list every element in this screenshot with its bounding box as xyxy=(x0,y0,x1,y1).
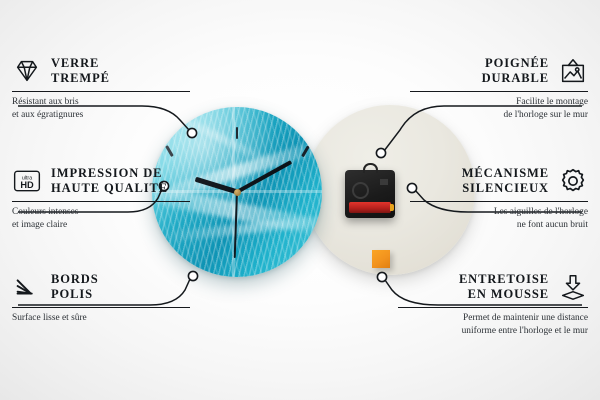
feature-title-line2: POLIS xyxy=(51,287,99,302)
feature-title-line1: MÉCANISME xyxy=(462,166,549,181)
feature-title-line1: IMPRESSION DE xyxy=(51,166,168,181)
feature-title-line2: TREMPÉ xyxy=(51,71,110,86)
feature-header: POIGNÉE DURABLE xyxy=(410,56,588,87)
feature-divider xyxy=(12,307,190,309)
feature-description: Surface lisse et sûre xyxy=(12,312,190,325)
feature-description: Facilite le montage de l'horloge sur le … xyxy=(410,96,588,123)
feature-header: VERRE TREMPÉ xyxy=(12,56,190,87)
polished-edges-icon xyxy=(12,272,42,302)
feature-title-line2: DURABLE xyxy=(482,71,549,86)
battery xyxy=(349,202,391,213)
feature-title-line1: POIGNÉE xyxy=(482,56,549,71)
feature-header: BORDS POLIS xyxy=(12,272,190,303)
feature-durable-handle: POIGNÉE DURABLE Facilite le montage de l… xyxy=(410,56,588,123)
feature-polished-edges: BORDS POLIS Surface lisse et sûre xyxy=(12,272,190,325)
mechanism-chip xyxy=(380,179,388,185)
feature-print-quality: ultra HD IMPRESSION DE HAUTE QUALITÉ Cou… xyxy=(12,166,190,233)
feature-divider xyxy=(410,91,588,93)
mechanism-dial xyxy=(352,182,369,199)
diamond-icon xyxy=(12,56,42,86)
feature-title-line1: VERRE xyxy=(51,56,110,71)
feature-title: IMPRESSION DE HAUTE QUALITÉ xyxy=(51,166,168,197)
feature-divider xyxy=(410,201,588,203)
feature-header: ultra HD IMPRESSION DE HAUTE QUALITÉ xyxy=(12,166,190,197)
feature-description: Résistant aux bris et aux égratignures xyxy=(12,96,190,123)
feature-title-line2: SILENCIEUX xyxy=(462,181,549,196)
feature-description: Les aiguilles de l'horloge ne font aucun… xyxy=(410,206,588,233)
feature-title-line2: EN MOUSSE xyxy=(459,287,549,302)
foam-spacer xyxy=(372,250,390,268)
feature-header: ENTRETOISE EN MOUSSE xyxy=(398,272,588,303)
feature-title: POIGNÉE DURABLE xyxy=(482,56,549,87)
clock-mechanism xyxy=(345,170,395,218)
feature-title: BORDS POLIS xyxy=(51,272,99,303)
feature-title-line1: BORDS xyxy=(51,272,99,287)
infographic-stage: VERRE TREMPÉ Résistant aux bris et aux é… xyxy=(0,0,600,400)
svg-text:HD: HD xyxy=(20,180,34,190)
ultra-hd-badge-icon: ultra HD xyxy=(12,166,42,196)
foam-spacer-arrow-icon xyxy=(558,272,588,302)
feature-tempered-glass: VERRE TREMPÉ Résistant aux bris et aux é… xyxy=(12,56,190,123)
gear-icon xyxy=(558,166,588,196)
feature-divider xyxy=(12,91,190,93)
feature-title-line1: ENTRETOISE xyxy=(459,272,549,287)
mechanism-hanger-loop-icon xyxy=(363,163,378,173)
feature-title: MÉCANISME SILENCIEUX xyxy=(462,166,549,197)
feature-header: MÉCANISME SILENCIEUX xyxy=(410,166,588,197)
feature-title: ENTRETOISE EN MOUSSE xyxy=(459,272,549,303)
feature-divider xyxy=(398,307,588,309)
feature-silent-mechanism: MÉCANISME SILENCIEUX Les aiguilles de l'… xyxy=(410,166,588,233)
picture-frame-hanger-icon xyxy=(558,56,588,86)
feature-description: Permet de maintenir une distance uniform… xyxy=(398,312,588,339)
feature-title-line2: HAUTE QUALITÉ xyxy=(51,181,168,196)
feature-foam-spacer: ENTRETOISE EN MOUSSE Permet de maintenir… xyxy=(398,272,588,339)
feature-divider xyxy=(12,201,190,203)
feature-description: Couleurs intenses et image claire xyxy=(12,206,190,233)
feature-title: VERRE TREMPÉ xyxy=(51,56,110,87)
